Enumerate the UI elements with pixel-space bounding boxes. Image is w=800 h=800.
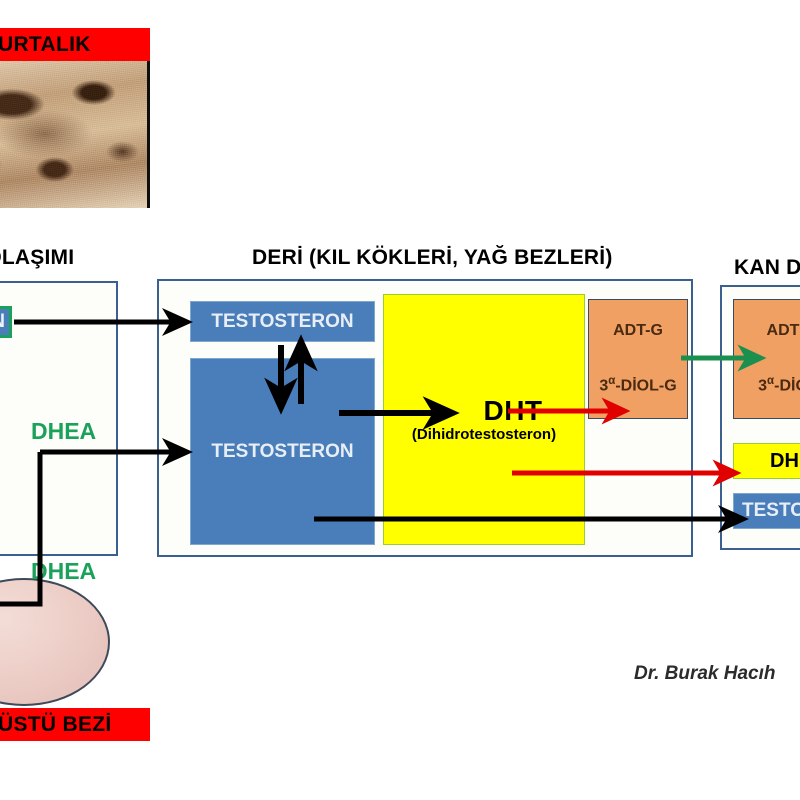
diol-g-label: 3α-DİOL-G	[599, 375, 676, 395]
box-adt-g-blood: ADT 3α-DİO	[733, 299, 800, 419]
box-testosterone-blood: TESTO	[733, 493, 800, 529]
box-circulating-testosterone: STERON	[0, 306, 12, 338]
box-dht-blood: DH	[733, 443, 800, 479]
adt-g-label: ADT-G	[613, 323, 663, 340]
box-skin-testosterone-top: TESTOSTERON	[190, 301, 375, 342]
box-adt-g-skin: ADT-G 3α-DİOL-G	[588, 299, 688, 419]
header-blood-circulation-left: DOLAŞIMI	[0, 246, 74, 270]
adt-g-blood-label: ADT	[767, 323, 800, 340]
ovary-banner: URTALIK	[0, 28, 150, 61]
adrenal-gland-shape	[0, 578, 110, 706]
dht-label: DHT	[425, 396, 542, 425]
ovary-ultrasound-photo	[0, 60, 150, 208]
label-dhea-lower: DHEA	[31, 558, 96, 585]
box-skin-testosterone-main: TESTOSTERON	[190, 358, 375, 545]
adrenal-banner: ÜSTÜ BEZİ	[0, 708, 150, 741]
diagram-canvas: URTALIK ÜSTÜ BEZİ DOLAŞIMI DERİ (KIL KÖK…	[0, 0, 800, 800]
header-blood-circulation-right: KAN D	[734, 256, 800, 280]
header-skin: DERİ (KIL KÖKLERİ, YAĞ BEZLERİ)	[252, 246, 613, 270]
author-signature: Dr. Burak Hacıh	[634, 663, 776, 685]
dht-sublabel: (Dihidrotestosteron)	[412, 427, 556, 443]
ultrasound-grain-texture	[0, 60, 147, 208]
label-dhea-upper: DHEA	[31, 418, 96, 445]
box-dht-skin: DHT (Dihidrotestosteron)	[383, 294, 585, 545]
diol-g-blood-label: 3α-DİO	[758, 375, 800, 395]
